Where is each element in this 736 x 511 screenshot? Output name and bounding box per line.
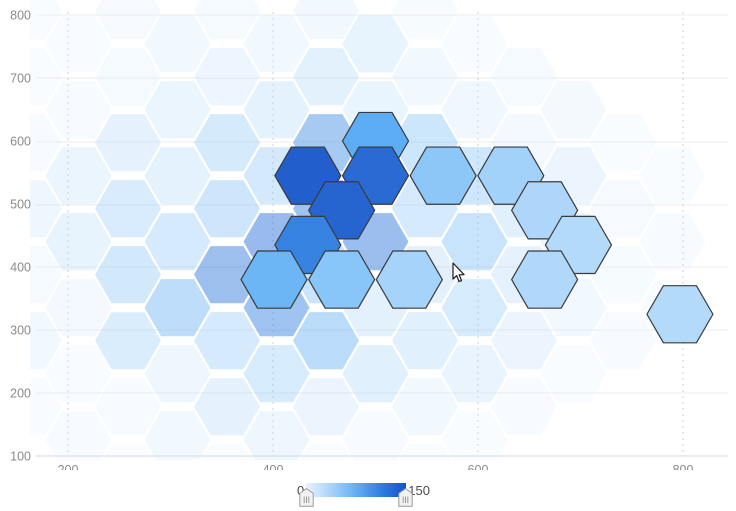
y-axis-tick-label: 100: [10, 450, 31, 464]
x-axis-tick-label: 600: [468, 463, 489, 470]
hexbin-cell-unselected[interactable]: [145, 411, 211, 468]
hexbin-cell-unselected[interactable]: [491, 312, 557, 369]
hexbin-cell-unselected[interactable]: [343, 15, 409, 72]
hexbin-cell-unselected[interactable]: [95, 48, 161, 105]
hexbin-cell-unselected[interactable]: [46, 147, 112, 204]
hexbin-cell-unselected[interactable]: [145, 81, 211, 138]
hexbin-cell-unselected[interactable]: [194, 180, 260, 237]
hexbin-cell-unselected[interactable]: [46, 411, 112, 468]
hexbin-cell-unselected[interactable]: [442, 213, 508, 270]
hexbin-cell-unselected[interactable]: [293, 312, 359, 369]
hexbin-cell-unselected[interactable]: [491, 378, 557, 435]
color-legend[interactable]: 0: [0, 470, 736, 511]
y-axis-tick-label: 300: [10, 324, 31, 338]
hexbin-layer[interactable]: [0, 0, 713, 470]
hexbin-plot-svg[interactable]: 800700600500400300200100 200400600800: [0, 0, 736, 470]
hexbin-cell-unselected[interactable]: [392, 48, 458, 105]
hexbin-cell-unselected[interactable]: [95, 114, 161, 171]
hexbin-cell-unselected[interactable]: [95, 312, 161, 369]
hexbin-cell-unselected[interactable]: [95, 246, 161, 303]
hexbin-cell-unselected[interactable]: [46, 213, 112, 270]
hexbin-cell-unselected[interactable]: [145, 279, 211, 336]
hexbin-cell-unselected[interactable]: [194, 312, 260, 369]
hexbin-cell-unselected[interactable]: [46, 81, 112, 138]
hexbin-cell-unselected[interactable]: [640, 213, 706, 270]
hexbin-cell-unselected[interactable]: [95, 180, 161, 237]
y-axis-tick-label: 500: [10, 198, 31, 212]
x-axis-tick-label: 800: [673, 463, 694, 470]
y-axis-ticks: 800700600500400300200100: [10, 9, 31, 464]
hexbin-cell-unselected[interactable]: [442, 81, 508, 138]
hexbin-cell-unselected[interactable]: [0, 312, 62, 369]
y-axis-tick-label: 700: [10, 72, 31, 86]
hexbin-cell-unselected[interactable]: [244, 411, 310, 468]
hexbin-cell-unselected[interactable]: [343, 411, 409, 468]
x-axis-tick-label: 200: [58, 463, 79, 470]
hexbin-cell-unselected[interactable]: [343, 345, 409, 402]
hexbin-cell-unselected[interactable]: [491, 48, 557, 105]
hexbin-chart-page: 800700600500400300200100 200400600800 0: [0, 0, 736, 511]
hexbin-cell-unselected[interactable]: [442, 279, 508, 336]
hexbin-cell-unselected[interactable]: [0, 246, 62, 303]
hexbin-cell-unselected[interactable]: [244, 15, 310, 72]
hexbin-cell-unselected[interactable]: [640, 147, 706, 204]
hexbin-cell-unselected[interactable]: [442, 15, 508, 72]
hexbin-cell-unselected[interactable]: [46, 345, 112, 402]
hexbin-cell-unselected[interactable]: [293, 48, 359, 105]
hexbin-cell-unselected[interactable]: [392, 378, 458, 435]
hexbin-cell-unselected[interactable]: [541, 345, 607, 402]
hexbin-cell-unselected[interactable]: [46, 279, 112, 336]
hexbin-cell-unselected[interactable]: [392, 312, 458, 369]
color-gradient-bar[interactable]: [306, 483, 406, 497]
hexbin-cell-unselected[interactable]: [145, 15, 211, 72]
hexbin-cell-unselected[interactable]: [244, 345, 310, 402]
y-axis-tick-label: 600: [10, 135, 31, 149]
hexbin-cell-unselected[interactable]: [145, 345, 211, 402]
hexbin-cell-unselected[interactable]: [194, 378, 260, 435]
hexbin-cell-unselected[interactable]: [244, 81, 310, 138]
plot-area[interactable]: 800700600500400300200100 200400600800: [0, 0, 736, 470]
y-axis-tick-label: 200: [10, 387, 31, 401]
hexbin-cell-unselected[interactable]: [194, 114, 260, 171]
hexbin-cell-unselected[interactable]: [442, 411, 508, 468]
hexbin-cell-unselected[interactable]: [293, 378, 359, 435]
range-slider-right-handle[interactable]: [398, 488, 413, 507]
hexbin-cell-unselected[interactable]: [442, 345, 508, 402]
hexbin-cell-unselected[interactable]: [145, 213, 211, 270]
hexbin-cell-unselected[interactable]: [590, 312, 656, 369]
x-axis-ticks: 200400600800: [58, 463, 694, 470]
y-axis-tick-label: 400: [10, 261, 31, 275]
y-axis-tick-label: 800: [10, 9, 31, 23]
range-slider-left-handle[interactable]: [299, 488, 314, 507]
hexbin-cell-unselected[interactable]: [194, 48, 260, 105]
hexbin-cell-unselected[interactable]: [95, 378, 161, 435]
x-axis-tick-label: 400: [263, 463, 284, 470]
hexbin-cell-unselected[interactable]: [145, 147, 211, 204]
hexbin-cell-unselected[interactable]: [590, 114, 656, 171]
hexbin-cell-unselected[interactable]: [541, 81, 607, 138]
hexbin-cell-unselected[interactable]: [46, 15, 112, 72]
